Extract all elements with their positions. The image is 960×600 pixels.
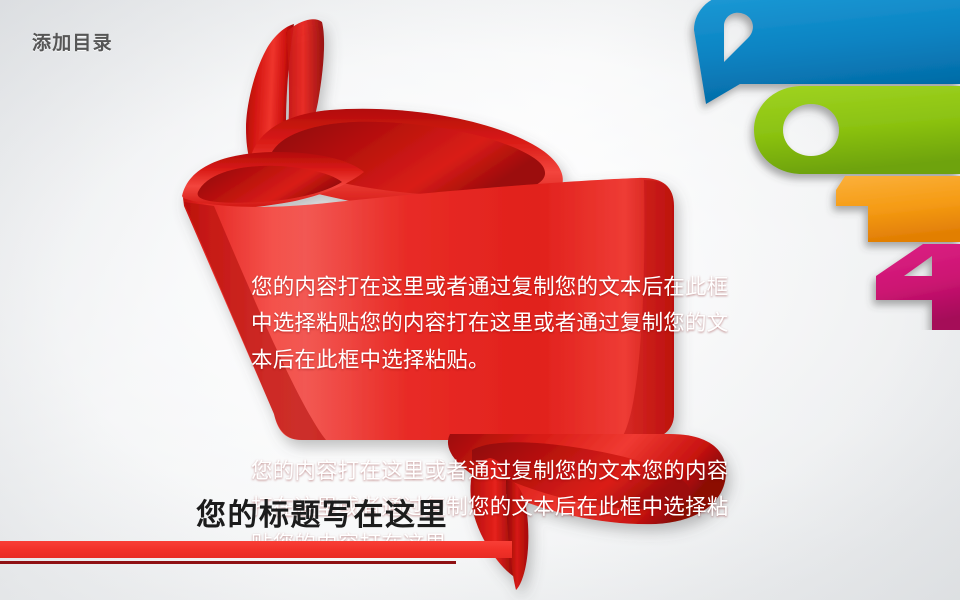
accent-bar-red [0, 541, 512, 558]
slide-canvas: 您的内容打在这里或者通过复制您的文本后在此框中选择粘贴您的内容打在这里或者通过复… [0, 0, 960, 600]
section-heading: 您的标题写在这里 [196, 490, 448, 534]
accent-bar-dark [0, 561, 456, 564]
page-title: 添加目录 [32, 28, 113, 55]
numeral-4-magenta-shape [876, 244, 960, 330]
numeral-1-orange-shape [836, 176, 960, 242]
